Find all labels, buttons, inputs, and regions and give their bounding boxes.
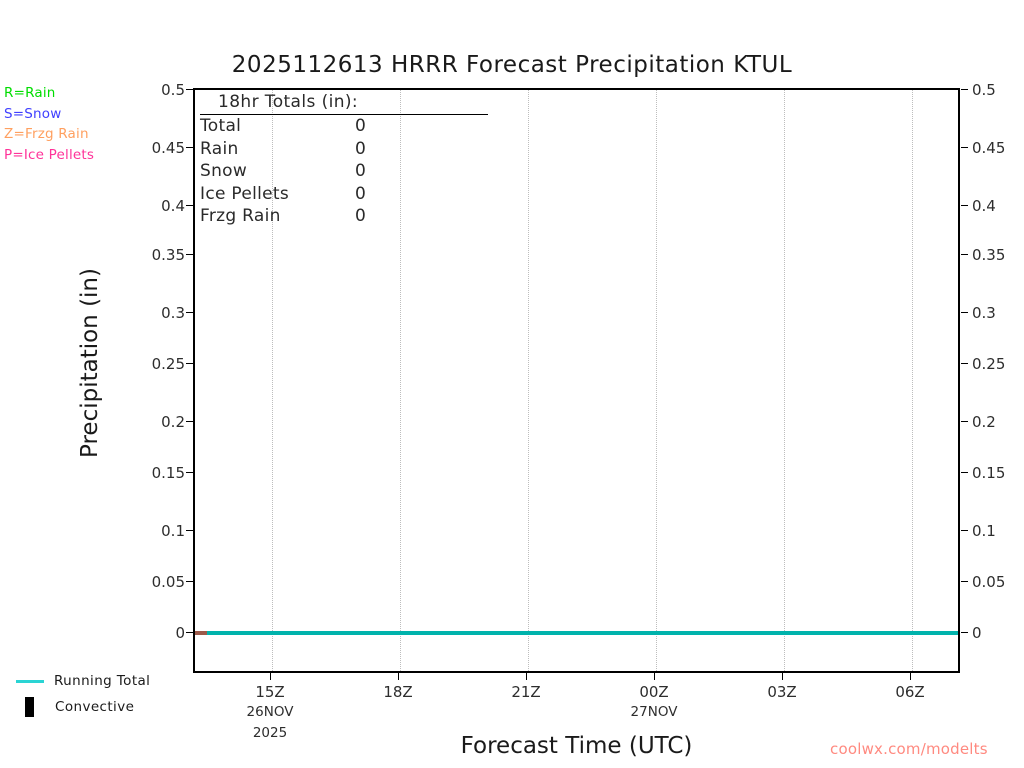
x-tick-mark-21z: [526, 673, 527, 680]
y-tick-mark-left: [186, 205, 193, 206]
legend-entry-convective: Convective: [14, 694, 150, 720]
y-tick-label-left-0.35: 0.35: [140, 246, 185, 264]
y-tick-label-left-0.25: 0.25: [140, 355, 185, 373]
x-tick-label-03z: 03Z: [767, 683, 796, 701]
ptype-legend-item-ice-pellets: P=Ice Pellets: [4, 145, 94, 166]
page-title: 2025112613 HRRR Forecast Precipitation K…: [0, 52, 1024, 78]
y-tick-mark-left: [186, 581, 193, 582]
gridline-21z: [528, 90, 530, 671]
totals-row-rain: Rain 0: [200, 138, 500, 161]
totals-value: 0: [355, 183, 415, 206]
totals-row-frzg-rain: Frzg Rain 0: [200, 205, 500, 228]
y-tick-label-left-0.15: 0.15: [140, 464, 185, 482]
line-swatch-icon: [16, 680, 44, 683]
y-tick-label-left-0.1: 0.1: [140, 522, 185, 540]
y-tick-label-right-0.5: 0.5: [972, 81, 1022, 99]
y-tick-mark-right: [961, 632, 968, 633]
y-tick-label-left-0.05: 0.05: [140, 573, 185, 591]
y-tick-mark-right: [961, 254, 968, 255]
ptype-legend-item-rain: R=Rain: [4, 83, 94, 104]
y-tick-label-right-0.4: 0.4: [972, 197, 1022, 215]
y-tick-label-left-0.45: 0.45: [140, 139, 185, 157]
x-tick-mark-03z: [782, 673, 783, 680]
x-tick-mark-15z: [270, 673, 271, 680]
totals-label: Snow: [200, 160, 355, 183]
totals-value: 0: [355, 138, 415, 161]
y-tick-label-right-0.45: 0.45: [972, 139, 1022, 157]
y-tick-mark-left: [186, 472, 193, 473]
x-tick-mark-18z: [398, 673, 399, 680]
x-date-label-27nov: 27NOV: [631, 704, 678, 720]
totals-value: 0: [355, 115, 415, 138]
x-tick-label-00z: 00Z: [639, 683, 668, 701]
totals-label: Total: [200, 115, 355, 138]
y-tick-mark-left: [186, 530, 193, 531]
y-tick-label-right-0.25: 0.25: [972, 355, 1022, 373]
x-tick-mark-00z: [654, 673, 655, 680]
totals-row-snow: Snow 0: [200, 160, 500, 183]
x-tick-mark-06z: [910, 673, 911, 680]
y-tick-label-right-0.05: 0.05: [972, 573, 1022, 591]
ptype-legend-item-frzg-rain: Z=Frzg Rain: [4, 124, 94, 145]
y-tick-mark-left: [186, 89, 193, 90]
y-tick-mark-right: [961, 205, 968, 206]
totals-value: 0: [355, 160, 415, 183]
gridline-03z: [784, 90, 786, 671]
y-tick-label-right-0.35: 0.35: [972, 246, 1022, 264]
x-tick-label-15z: 15Z: [255, 683, 284, 701]
y-tick-mark-right: [961, 421, 968, 422]
x-tick-label-21z: 21Z: [511, 683, 540, 701]
y-tick-mark-left: [186, 363, 193, 364]
y-tick-label-right-0.1: 0.1: [972, 522, 1022, 540]
y-tick-label-right-0: 0: [972, 624, 1022, 642]
watermark-credit: coolwx.com/modelts: [830, 740, 988, 758]
legend-entry-running-total: Running Total: [14, 668, 150, 694]
y-tick-mark-right: [961, 312, 968, 313]
totals-summary-box: 18hr Totals (in): Total 0 Rain 0 Snow 0 …: [200, 92, 500, 228]
y-tick-label-left-0.4: 0.4: [140, 197, 185, 215]
series-legend: Running Total Convective: [14, 668, 150, 720]
totals-value: 0: [355, 205, 415, 228]
x-date-label-26nov: 26NOV: [247, 704, 294, 720]
y-tick-mark-left: [186, 312, 193, 313]
totals-label: Frzg Rain: [200, 205, 355, 228]
y-tick-mark-right: [961, 530, 968, 531]
y-tick-label-right-0.3: 0.3: [972, 304, 1022, 322]
x-tick-label-06z: 06Z: [895, 683, 924, 701]
y-tick-mark-left: [186, 147, 193, 148]
y-tick-mark-right: [961, 472, 968, 473]
y-tick-label-left-0.2: 0.2: [140, 413, 185, 431]
legend-label: Running Total: [54, 673, 150, 689]
running-total-start-marker: [195, 631, 207, 635]
bar-swatch-icon: [25, 697, 34, 717]
ptype-legend-item-snow: S=Snow: [4, 104, 94, 125]
y-tick-mark-right: [961, 147, 968, 148]
totals-row-total: Total 0: [200, 115, 500, 138]
precip-type-legend: R=Rain S=Snow Z=Frzg Rain P=Ice Pellets: [4, 83, 94, 165]
y-tick-label-right-0.2: 0.2: [972, 413, 1022, 431]
running-total-series: [195, 631, 958, 635]
y-tick-label-left-0.3: 0.3: [140, 304, 185, 322]
gridline-00z: [656, 90, 658, 671]
totals-heading: 18hr Totals (in):: [200, 92, 488, 115]
y-tick-label-left-0: 0: [140, 624, 185, 642]
x-tick-label-18z: 18Z: [383, 683, 412, 701]
y-tick-mark-right: [961, 89, 968, 90]
y-tick-mark-left: [186, 254, 193, 255]
y-tick-mark-right: [961, 363, 968, 364]
y-tick-label-left-0.5: 0.5: [140, 81, 185, 99]
gridline-06z: [912, 90, 914, 671]
y-tick-mark-left: [186, 632, 193, 633]
totals-label: Ice Pellets: [200, 183, 355, 206]
y-tick-mark-left: [186, 421, 193, 422]
legend-label: Convective: [55, 699, 134, 715]
y-tick-mark-right: [961, 581, 968, 582]
totals-row-ice-pellets: Ice Pellets 0: [200, 183, 500, 206]
totals-label: Rain: [200, 138, 355, 161]
y-tick-label-right-0.15: 0.15: [972, 464, 1022, 482]
y-axis-title: Precipitation (in): [77, 203, 103, 523]
